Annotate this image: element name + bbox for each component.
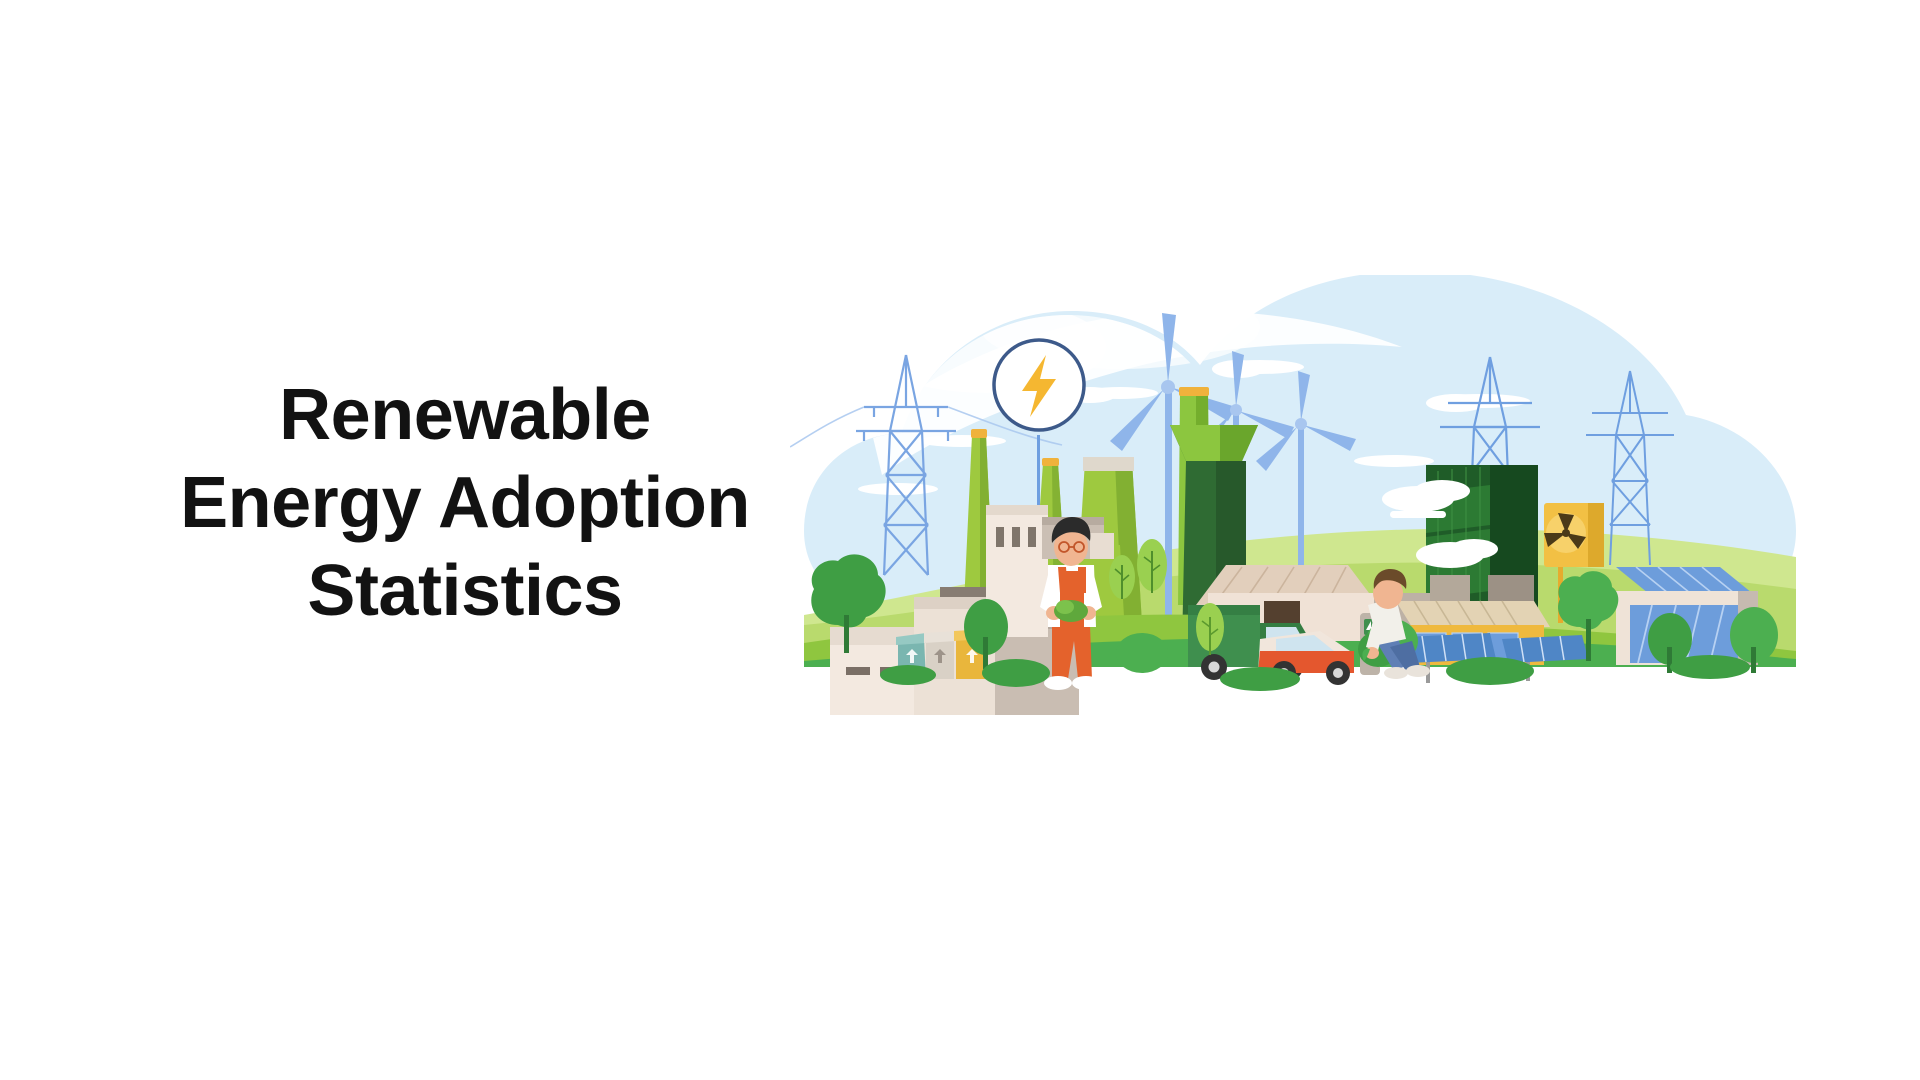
- tree: [1116, 633, 1168, 673]
- page-title-line-2: Energy Adoption: [110, 460, 820, 548]
- tree: [1109, 555, 1135, 599]
- page-title: Renewable Energy Adoption Statistics: [110, 372, 820, 635]
- renewable-energy-illustration: [790, 275, 1800, 820]
- slide-root: Renewable Energy Adoption Statistics: [0, 0, 1920, 1080]
- page-title-line-1: Renewable: [110, 372, 820, 460]
- page-title-line-3: Statistics: [110, 548, 820, 636]
